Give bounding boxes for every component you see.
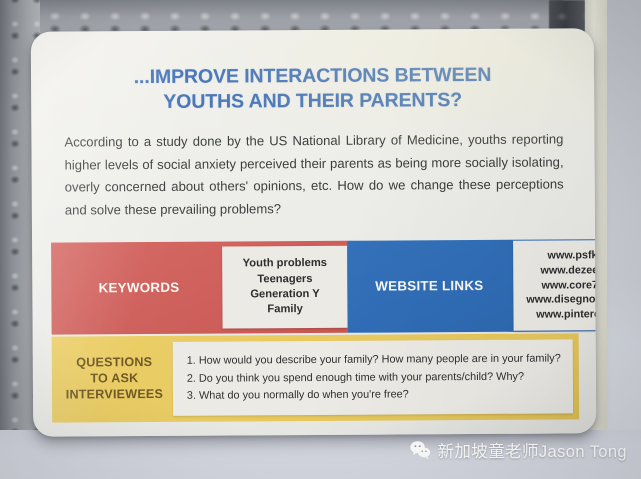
question-item: 2. Do you think you spend enough time wi… bbox=[187, 368, 561, 388]
keyword-item: Teenagers bbox=[227, 271, 344, 287]
website-link-item: www.pinterest.com bbox=[517, 307, 596, 323]
section-keywords: KEYWORDS Youth problems Teenagers Genera… bbox=[51, 241, 348, 335]
card-title: ...IMPROVE INTERACTIONS BETWEEN YOUTHS A… bbox=[31, 28, 594, 115]
website-link-item: www.dezeen.com bbox=[517, 263, 596, 279]
section-keywords-label: KEYWORDS bbox=[51, 280, 222, 297]
section-questions-label-line-3: INTERVIEWEES bbox=[66, 387, 163, 403]
section-website-links: WEBSITE LINKS www.psfk.com www.dezeen.co… bbox=[347, 239, 596, 333]
photo-scene: ...IMPROVE INTERACTIONS BETWEEN YOUTHS A… bbox=[0, 0, 641, 479]
card-title-line-2: YOUTHS AND THEIR PARENTS? bbox=[71, 87, 554, 115]
watermark-text: 新加坡童老师Jason Tong bbox=[438, 438, 628, 462]
background-wood-edge bbox=[607, 0, 641, 452]
section-keywords-list: Youth problems Teenagers Generation Y Fa… bbox=[222, 246, 347, 329]
keyword-item: Family bbox=[227, 302, 344, 318]
section-questions-list: 1. How would you describe your family? H… bbox=[173, 339, 574, 415]
research-brief-card: ...IMPROVE INTERACTIONS BETWEEN YOUTHS A… bbox=[31, 28, 596, 436]
wechat-icon bbox=[409, 439, 431, 461]
watermark: 新加坡童老师Jason Tong bbox=[409, 438, 628, 462]
question-item: 1. How would you describe your family? H… bbox=[187, 350, 561, 370]
section-website-links-label: WEBSITE LINKS bbox=[347, 278, 503, 295]
website-link-item: www.psfk.com bbox=[517, 248, 596, 264]
section-row-top: KEYWORDS Youth problems Teenagers Genera… bbox=[51, 239, 579, 334]
keyword-item: Generation Y bbox=[227, 287, 344, 303]
section-questions-label-line-1: QUESTIONS bbox=[66, 355, 163, 371]
keyword-item: Youth problems bbox=[226, 256, 343, 272]
website-link-item: www.disegnodaily.com bbox=[517, 292, 596, 308]
card-sections: KEYWORDS Youth problems Teenagers Genera… bbox=[51, 239, 579, 422]
card-title-line-1: ...IMPROVE INTERACTIONS BETWEEN bbox=[71, 63, 554, 91]
section-questions-label-line-2: TO ASK bbox=[66, 371, 163, 387]
section-questions: QUESTIONS TO ASK INTERVIEWEES 1. How wou… bbox=[52, 333, 580, 422]
section-website-links-list: www.psfk.com www.dezeen.com www.core77.c… bbox=[513, 240, 596, 331]
section-questions-label: QUESTIONS TO ASK INTERVIEWEES bbox=[52, 336, 173, 423]
website-link-item: www.core77.com bbox=[517, 277, 596, 293]
card-intro-paragraph: According to a study done by the US Nati… bbox=[31, 111, 595, 221]
question-item: 3. What do you normally do when you're f… bbox=[187, 386, 561, 406]
